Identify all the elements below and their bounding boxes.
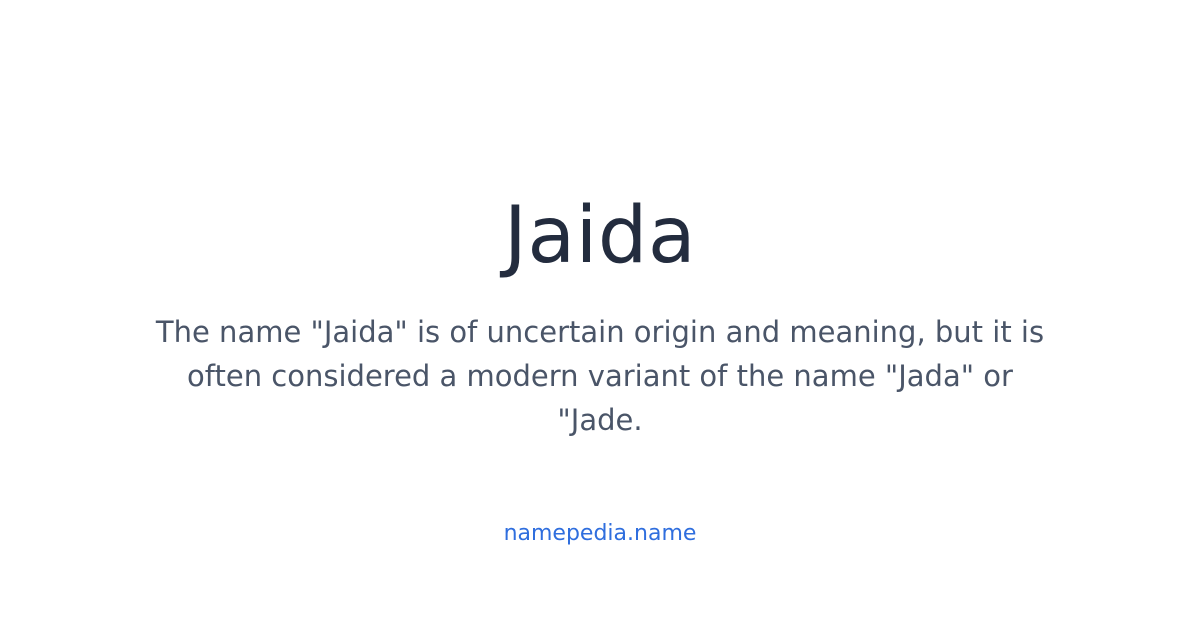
name-meaning-card: Jaida The name "Jaida" is of uncertain o…	[0, 0, 1200, 630]
name-description: The name "Jaida" is of uncertain origin …	[150, 310, 1050, 442]
page-title: Jaida	[0, 188, 1200, 284]
site-link[interactable]: namepedia.name	[0, 519, 1200, 549]
